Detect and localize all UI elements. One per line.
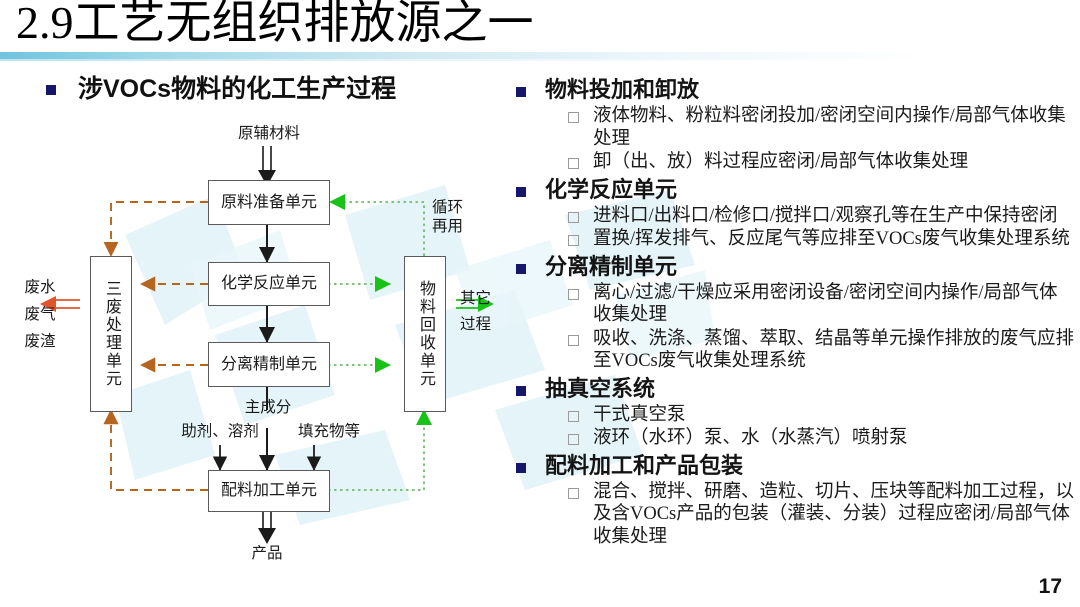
node-label: 原料准备单元: [221, 193, 317, 213]
diagram-node-material-recovery: 物料回收单元: [404, 256, 446, 412]
node-label: 三废处理单元: [100, 280, 122, 388]
section-item-label: 吸收、洗涤、蒸馏、萃取、结晶等单元操作排放的废气应排至VOCs废气收集处理系统: [593, 328, 1076, 373]
section-item-label: 混合、搅拌、研磨、造粒、切片、压块等配料加工过程，以及含VOCs产品的包装（灌装…: [593, 481, 1076, 549]
node-label: 化学反应单元: [221, 274, 317, 294]
diagram-label-other-process: 其它 过程: [460, 286, 506, 338]
diagram-label-product: 产品: [234, 544, 300, 563]
hollow-square-bullet-icon: [568, 434, 579, 445]
section-heading-label: 配料加工和产品包装: [545, 452, 743, 480]
section-item-label: 液体物料、粉粒料密闭投加/密闭空间内操作/局部气体收集处理: [593, 105, 1076, 150]
square-bullet-icon: [516, 87, 526, 97]
diagram-label-main-component: 主成分: [230, 398, 306, 417]
page-number: 17: [1039, 575, 1062, 599]
square-bullet-icon: [516, 264, 526, 274]
section-item-row: 液环（水环）泵、水（水蒸汽）喷射泵: [568, 427, 1076, 450]
hollow-square-bullet-icon: [568, 411, 579, 422]
section-item-label: 液环（水环）泵、水（水蒸汽）喷射泵: [593, 427, 908, 450]
section-heading-row: 抽真空系统: [516, 375, 1076, 403]
section-item-label: 置换/挥发排气、反应尾气等应排至VOCs废气收集处理系统: [593, 228, 1070, 251]
hollow-square-bullet-icon: [568, 235, 579, 246]
section-item-label: 进料口/出料口/检修口/搅拌口/观察孔等在生产中保持密闭: [593, 205, 1058, 228]
section-item-label: 干式真空泵: [593, 404, 686, 427]
section-heading-label: 抽真空系统: [545, 375, 655, 403]
hollow-square-bullet-icon: [568, 488, 579, 499]
hollow-square-bullet-icon: [568, 112, 579, 123]
section-item-row: 液体物料、粉粒料密闭投加/密闭空间内操作/局部气体收集处理: [568, 105, 1076, 150]
section-item-row: 卸（出、放）料过程应密闭/局部气体收集处理: [568, 151, 1076, 174]
diagram-label-input-raw: 原辅材料: [214, 124, 324, 143]
diagram-node-separation: 分离精制单元: [208, 342, 330, 387]
section-item-row: 干式真空泵: [568, 404, 1076, 427]
section-item-row: 置换/挥发排气、反应尾气等应排至VOCs废气收集处理系统: [568, 228, 1076, 251]
page-title: 2.9工艺无组织排放源之一: [16, 0, 534, 50]
section-heading-row: 分离精制单元: [516, 253, 1076, 281]
section-item-label: 卸（出、放）料过程应密闭/局部气体收集处理: [593, 151, 968, 174]
node-label: 配料加工单元: [221, 481, 317, 501]
section-item-row: 进料口/出料口/检修口/搅拌口/观察孔等在生产中保持密闭: [568, 205, 1076, 228]
diagram-label-filler: 填充物等: [280, 422, 378, 441]
diagram-label-recycle-reuse: 循环 再用: [432, 198, 480, 236]
section-heading-row: 化学反应单元: [516, 176, 1076, 204]
hollow-square-bullet-icon: [568, 212, 579, 223]
diagram-node-reaction: 化学反应单元: [208, 262, 330, 306]
square-bullet-icon: [516, 187, 526, 197]
section-heading-label: 化学反应单元: [545, 176, 677, 204]
section-heading-label: 物料投加和卸放: [545, 76, 699, 104]
hollow-square-bullet-icon: [568, 158, 579, 169]
node-label: 分离精制单元: [221, 355, 317, 375]
title-accent-bar: [0, 52, 1080, 59]
section-heading-label: 分离精制单元: [545, 253, 677, 281]
diagram-node-blending: 配料加工单元: [208, 470, 330, 512]
node-label: 物料回收单元: [414, 280, 436, 388]
diagram-node-raw-prep: 原料准备单元: [208, 180, 330, 225]
square-bullet-icon: [516, 463, 526, 473]
square-bullet-icon: [46, 85, 56, 95]
section-heading-row: 物料投加和卸放: [516, 76, 1076, 104]
title-accent-bar-secondary: [0, 59, 1080, 61]
square-bullet-icon: [516, 386, 526, 396]
diagram-node-waste-treatment: 三废处理单元: [90, 256, 132, 412]
section-item-row: 混合、搅拌、研磨、造粒、切片、压块等配料加工过程，以及含VOCs产品的包装（灌装…: [568, 481, 1076, 549]
diagram-label-waste-out: 废水 废气 废渣: [18, 274, 62, 355]
left-section-heading: 涉VOCs物料的化工生产过程: [46, 74, 396, 104]
section-heading-row: 配料加工和产品包装: [516, 452, 1076, 480]
slide: 2.9工艺无组织排放源之一 涉VOCs物料的化工生产过程: [0, 0, 1080, 607]
hollow-square-bullet-icon: [568, 335, 579, 346]
hollow-square-bullet-icon: [568, 289, 579, 300]
section-item-row: 吸收、洗涤、蒸馏、萃取、结晶等单元操作排放的废气应排至VOCs废气收集处理系统: [568, 328, 1076, 373]
process-flow-diagram: 原料准备单元 化学反应单元 分离精制单元 配料加工单元 三废处理单元 物料回收单…: [18, 110, 518, 570]
right-content-list: 物料投加和卸放 液体物料、粉粒料密闭投加/密闭空间内操作/局部气体收集处理 卸（…: [516, 74, 1076, 548]
left-heading-label: 涉VOCs物料的化工生产过程: [78, 74, 396, 104]
section-item-label: 离心/过滤/干燥应采用密闭设备/密闭空间内操作/局部气体收集处理: [593, 282, 1076, 327]
diagram-label-aux-solvent: 助剂、溶剂: [163, 422, 277, 441]
section-item-row: 离心/过滤/干燥应采用密闭设备/密闭空间内操作/局部气体收集处理: [568, 282, 1076, 327]
